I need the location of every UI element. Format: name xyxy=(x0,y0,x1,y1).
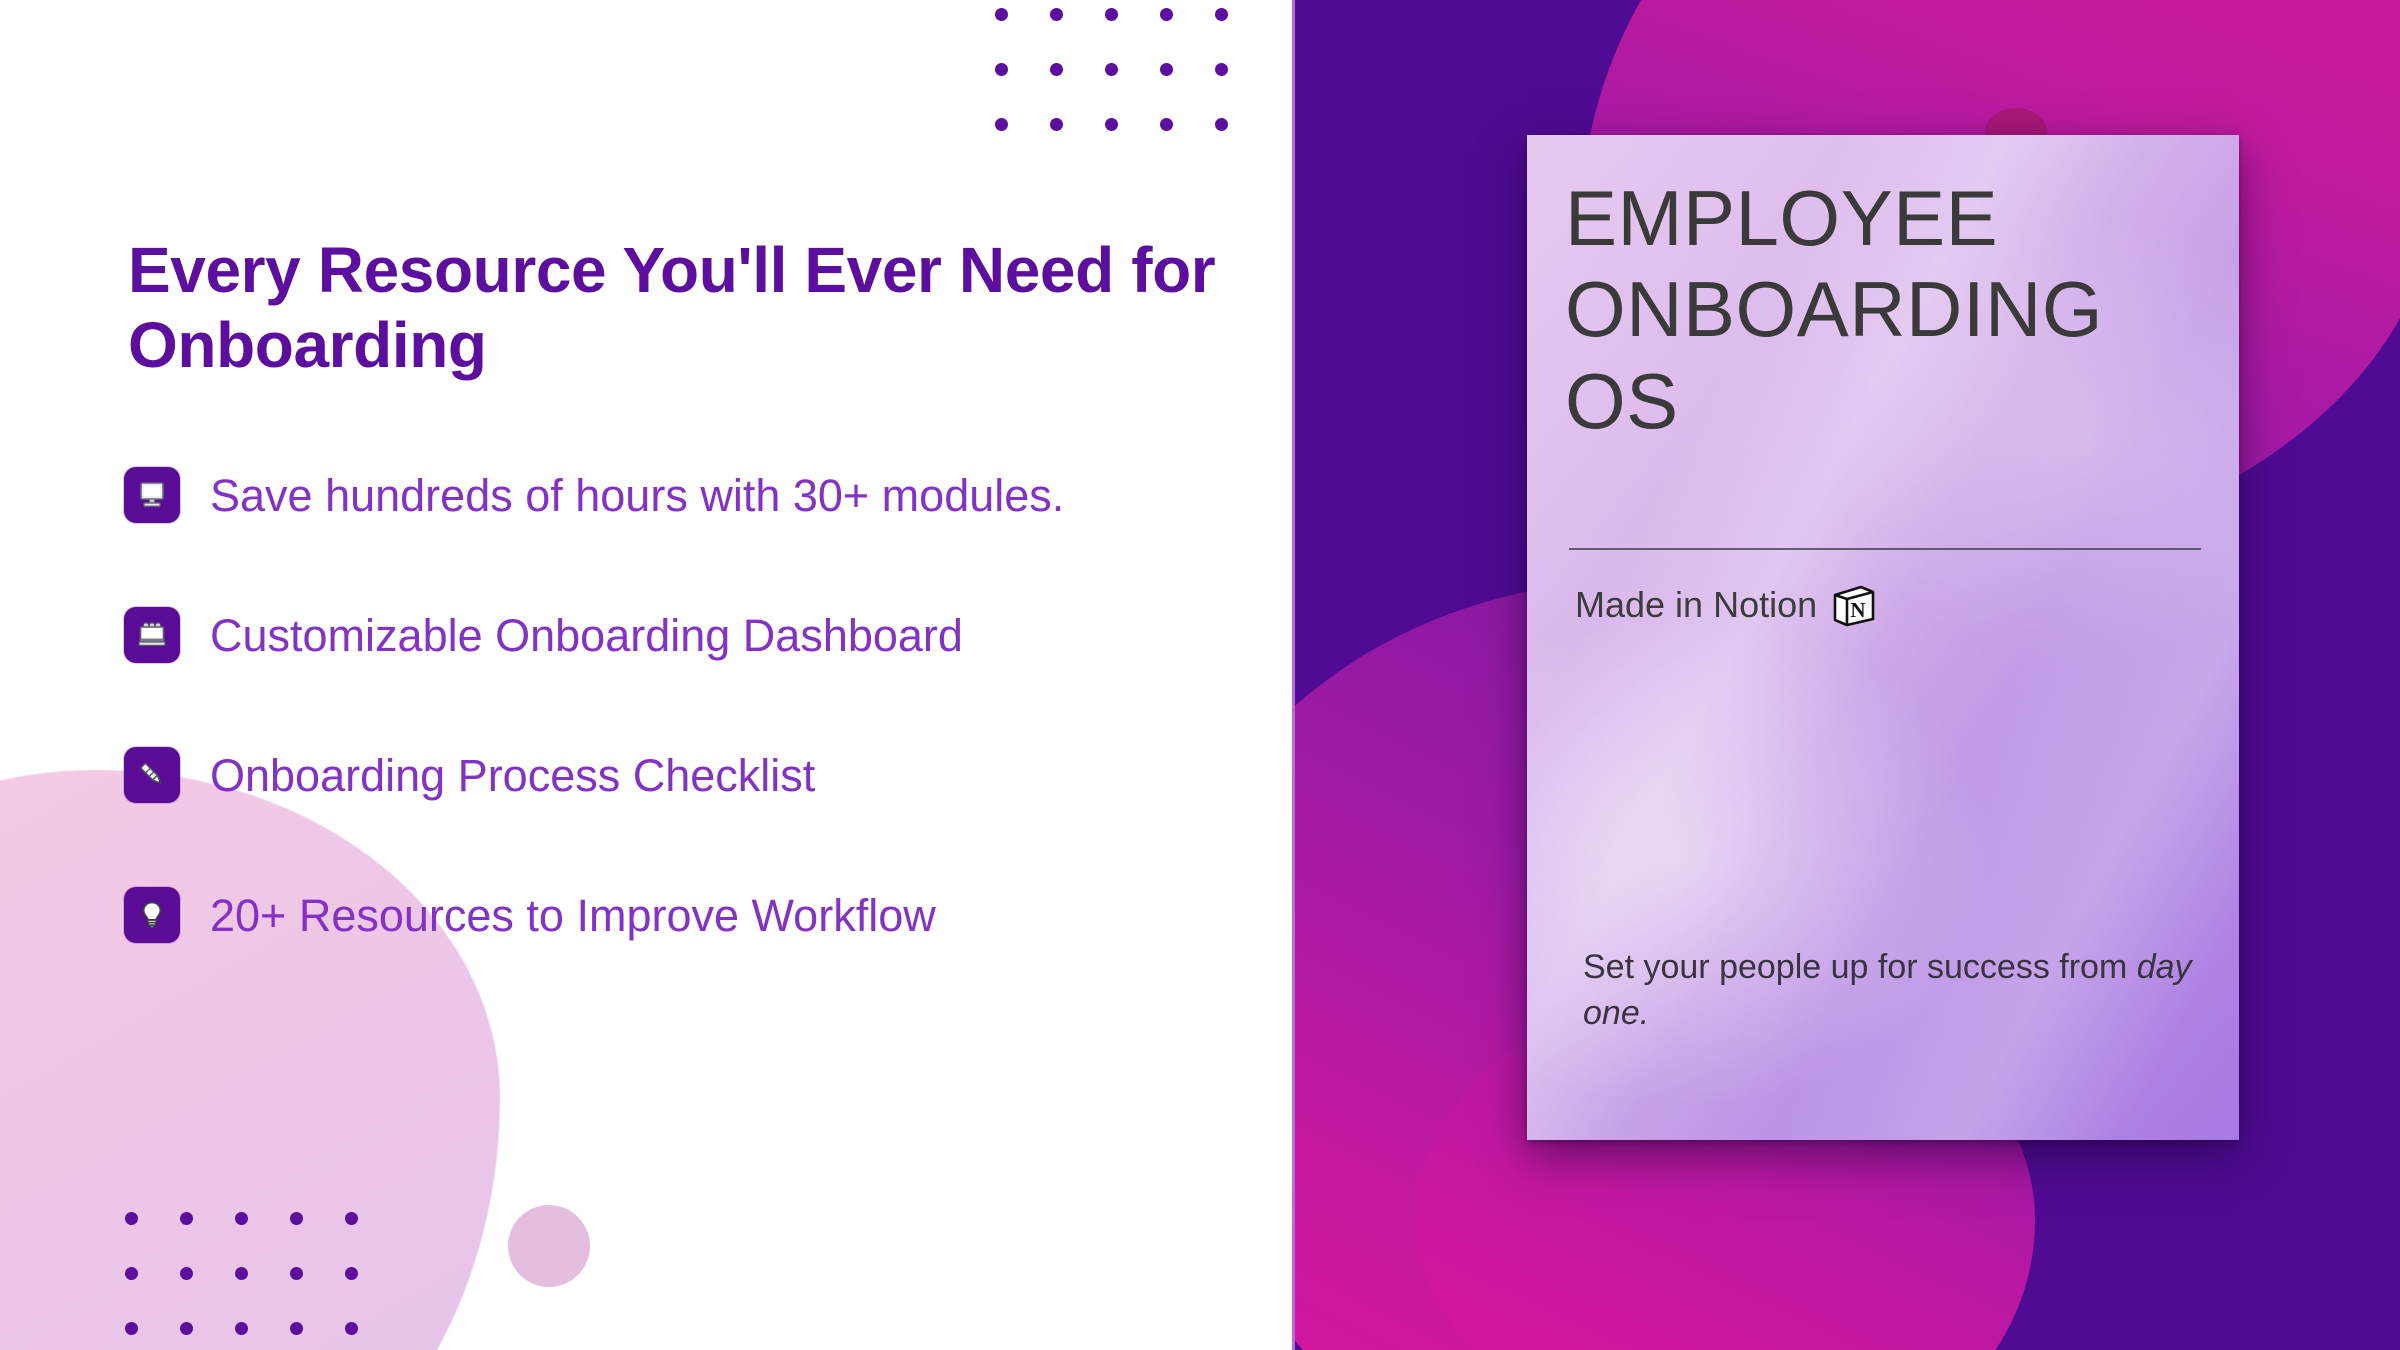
decorative-dot xyxy=(290,1322,303,1335)
computer-icon xyxy=(124,467,180,523)
feature-list: Save hundreds of hours with 30+ modules.… xyxy=(124,460,1264,1020)
decorative-dot xyxy=(345,1267,358,1280)
decorative-dot xyxy=(995,8,1008,21)
list-item-label: Onboarding Process Checklist xyxy=(210,753,815,798)
lightbulb-icon xyxy=(124,887,180,943)
decorative-dot xyxy=(995,118,1008,131)
left-content-panel: Every Resource You'll Ever Need for Onbo… xyxy=(0,0,1292,1350)
right-visual-panel: EMPLOYEE ONBOARDING OS Made in Notion N … xyxy=(1292,0,2400,1350)
made-in-label: Made in Notion xyxy=(1575,584,1817,626)
pen-icon xyxy=(124,747,180,803)
pink-circle-decoration xyxy=(508,1205,590,1287)
decorative-dot xyxy=(1160,118,1173,131)
decorative-dot xyxy=(995,63,1008,76)
decorative-dot xyxy=(125,1212,138,1225)
list-item: Save hundreds of hours with 30+ modules. xyxy=(124,460,1264,530)
decorative-dot xyxy=(1160,8,1173,21)
decorative-dot xyxy=(345,1322,358,1335)
made-in-notion-badge: Made in Notion N xyxy=(1575,583,1875,627)
decorative-dot xyxy=(180,1267,193,1280)
list-item: Customizable Onboarding Dashboard xyxy=(124,600,1264,670)
decorative-dot xyxy=(1215,118,1228,131)
divider xyxy=(1569,548,2201,550)
dot-grid-top-left xyxy=(995,8,1270,173)
decorative-dot xyxy=(1105,63,1118,76)
decorative-dot xyxy=(235,1322,248,1335)
decorative-dot xyxy=(1050,63,1063,76)
decorative-dot xyxy=(125,1267,138,1280)
decorative-dot xyxy=(290,1212,303,1225)
product-title: EMPLOYEE ONBOARDING OS xyxy=(1565,173,2205,447)
decorative-dot xyxy=(235,1212,248,1225)
product-tagline: Set your people up for success from day … xyxy=(1583,945,2203,1037)
decorative-dot xyxy=(1050,8,1063,21)
product-cover-card[interactable]: EMPLOYEE ONBOARDING OS Made in Notion N … xyxy=(1527,135,2239,1140)
decorative-dot xyxy=(1215,8,1228,21)
calendar-icon xyxy=(124,607,180,663)
decorative-dot xyxy=(125,1322,138,1335)
decorative-dot xyxy=(235,1267,248,1280)
list-item-label: 20+ Resources to Improve Workflow xyxy=(210,893,936,938)
decorative-dot xyxy=(1105,8,1118,21)
slide-root: Every Resource You'll Ever Need for Onbo… xyxy=(0,0,2400,1350)
decorative-dot xyxy=(180,1322,193,1335)
dot-grid-bottom-left xyxy=(125,1212,400,1350)
list-item: Onboarding Process Checklist xyxy=(124,740,1264,810)
decorative-dot xyxy=(345,1212,358,1225)
decorative-dot xyxy=(290,1267,303,1280)
decorative-dot xyxy=(180,1212,193,1225)
notion-logo-letter: N xyxy=(1851,598,1866,622)
page-title: Every Resource You'll Ever Need for Onbo… xyxy=(128,233,1218,384)
tagline-line-1: Set your people up for success from xyxy=(1583,948,2127,986)
list-item-label: Save hundreds of hours with 30+ modules. xyxy=(210,473,1064,518)
decorative-dot xyxy=(1160,63,1173,76)
decorative-dot xyxy=(1050,118,1063,131)
decorative-dot xyxy=(1105,118,1118,131)
decorative-dot xyxy=(1215,63,1228,76)
list-item: 20+ Resources to Improve Workflow xyxy=(124,880,1264,950)
notion-logo-icon: N xyxy=(1831,583,1875,627)
list-item-label: Customizable Onboarding Dashboard xyxy=(210,613,963,658)
